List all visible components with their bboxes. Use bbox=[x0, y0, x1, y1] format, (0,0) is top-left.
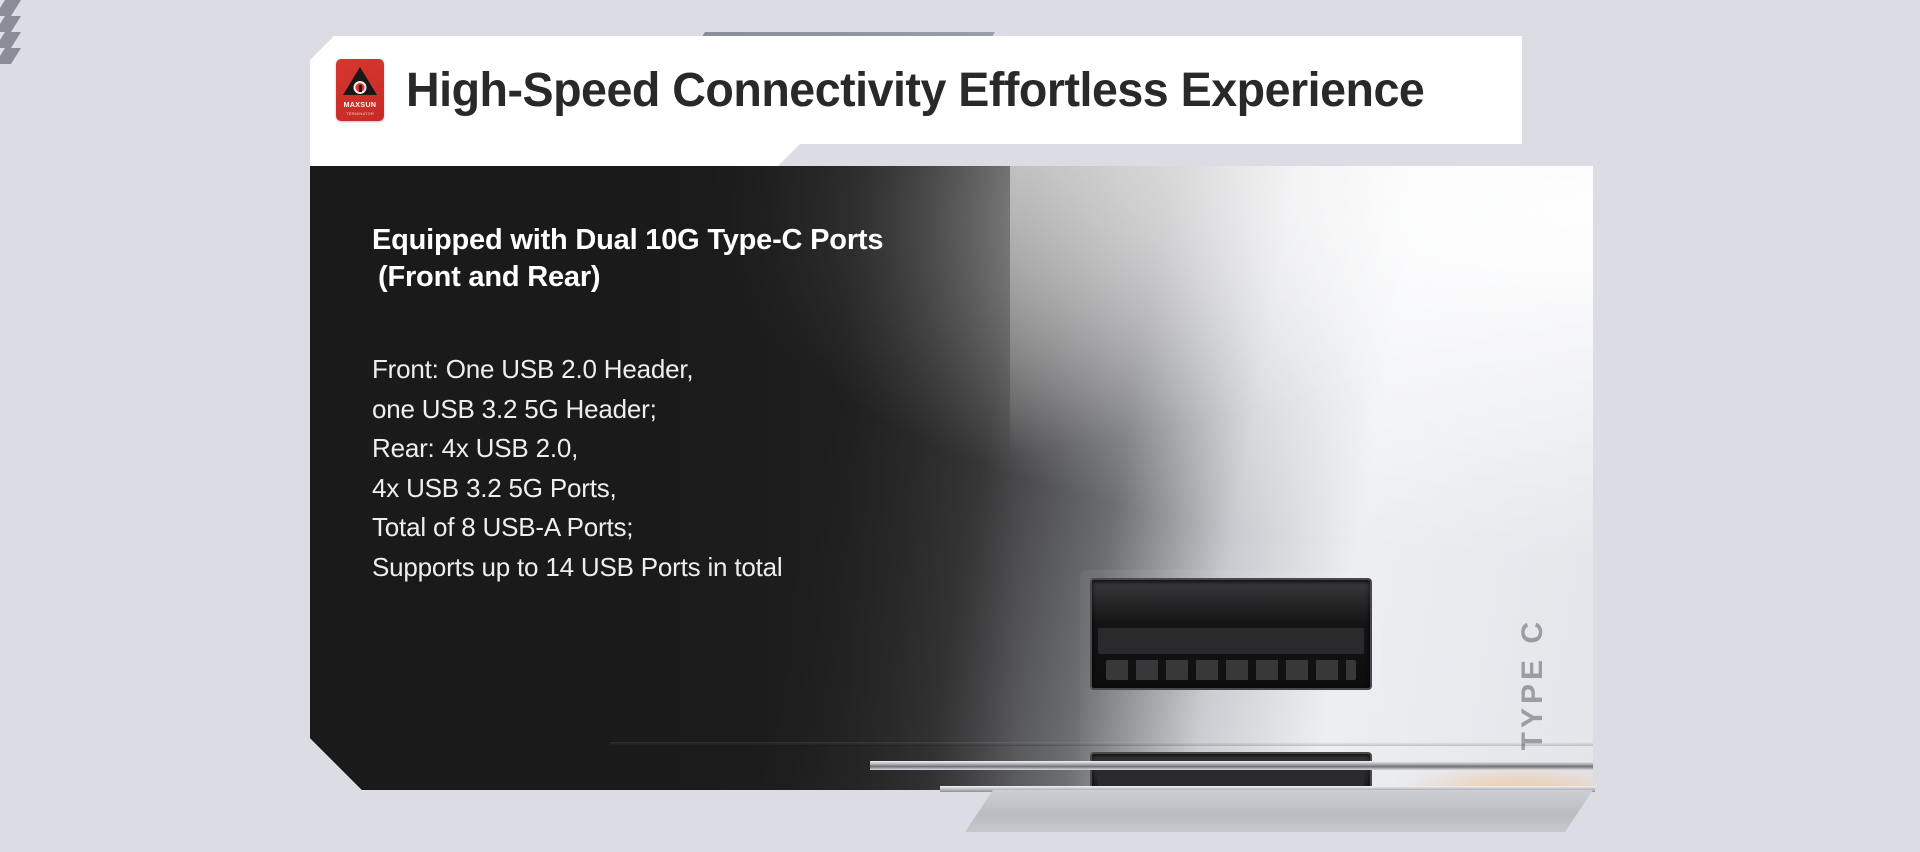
accent-tick-3 bbox=[0, 32, 21, 48]
panel-subtitle-line2: (Front and Rear) bbox=[372, 259, 1012, 296]
spec-item: one USB 3.2 5G Header; bbox=[372, 390, 1012, 430]
spec-list: Front: One USB 2.0 Header, one USB 3.2 5… bbox=[372, 350, 1012, 587]
logo-emblem-icon bbox=[354, 81, 367, 94]
page-title: High-Speed Connectivity Effortless Exper… bbox=[406, 63, 1424, 118]
spec-item: Front: One USB 2.0 Header, bbox=[372, 350, 1012, 390]
label-type-c: TYPE C bbox=[1516, 618, 1550, 750]
usb-a-pins bbox=[1106, 660, 1356, 680]
logo-tagline-text: TERMINATOR bbox=[336, 111, 384, 116]
bottom-silver-tab bbox=[965, 790, 1593, 832]
spec-item: Total of 8 USB-A Ports; bbox=[372, 508, 1012, 548]
product-banner: MAXSUN TERMINATOR High-Speed Connectivit… bbox=[0, 0, 1920, 852]
shield-seam bbox=[610, 742, 1593, 746]
panel-subtitle-line1: Equipped with Dual 10G Type-C Ports bbox=[372, 224, 883, 256]
usb-a-port-upper bbox=[1090, 578, 1372, 690]
spec-item: 4x USB 3.2 5G Ports, bbox=[372, 469, 1012, 509]
shield-specular-highlight bbox=[1010, 166, 1593, 790]
logo-brand-text: MAXSUN bbox=[336, 102, 384, 109]
maxsun-logo-icon: MAXSUN TERMINATOR bbox=[336, 59, 384, 121]
usb-a-port-lower bbox=[1090, 752, 1372, 790]
shield-bottom-lip bbox=[870, 761, 1593, 770]
panel-copy: Equipped with Dual 10G Type-C Ports (Fro… bbox=[372, 222, 1012, 587]
spec-item: Rear: 4x USB 2.0, bbox=[372, 429, 1012, 469]
accent-tick-4 bbox=[0, 48, 21, 64]
accent-tick-2 bbox=[0, 16, 21, 32]
header-plate-tail bbox=[310, 144, 800, 166]
usb-a-tongue bbox=[1098, 628, 1364, 654]
header: MAXSUN TERMINATOR High-Speed Connectivit… bbox=[310, 36, 1522, 144]
accent-tick-1 bbox=[0, 0, 21, 16]
panel-subtitle: Equipped with Dual 10G Type-C Ports (Fro… bbox=[372, 222, 1012, 296]
spec-item: Supports up to 14 USB Ports in total bbox=[372, 548, 1012, 588]
